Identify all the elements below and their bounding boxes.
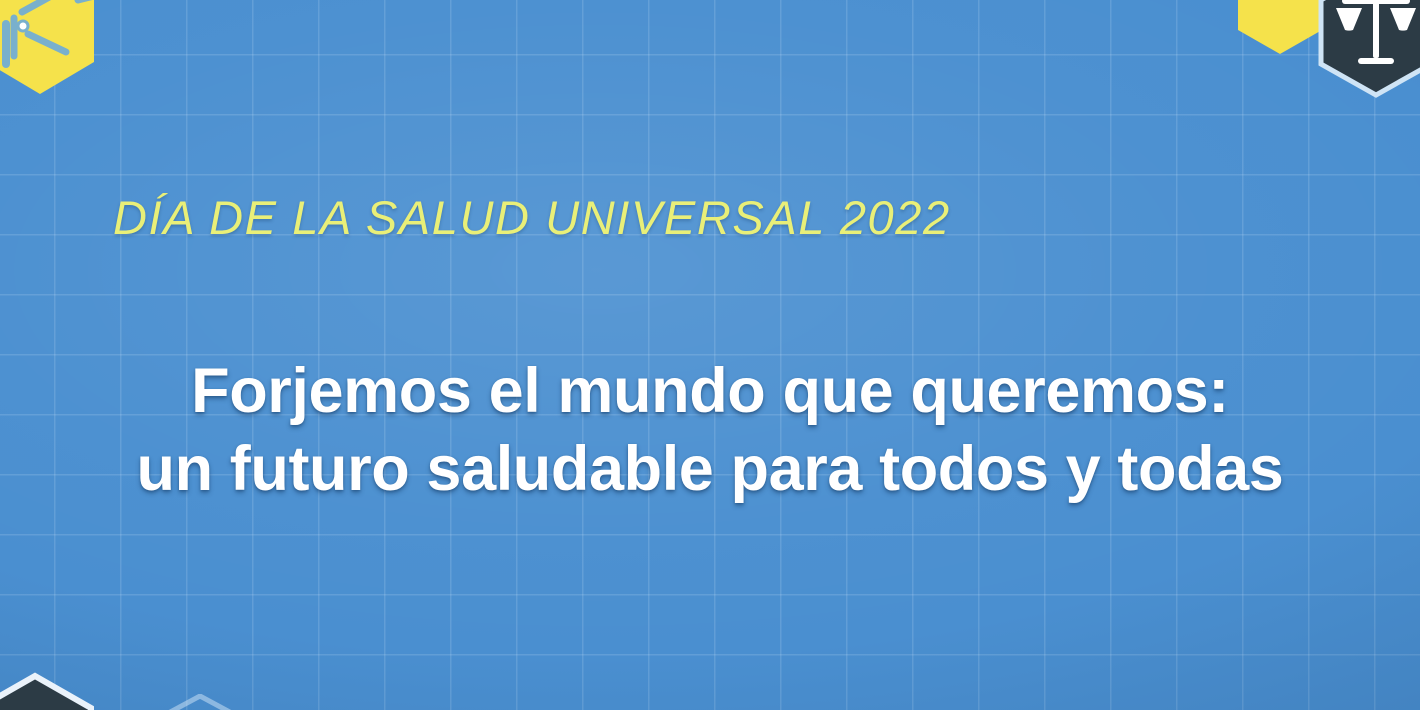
headline-line-1: Forjemos el mundo que queremos: xyxy=(60,352,1360,430)
slide-headline: Forjemos el mundo que queremos: un futur… xyxy=(0,352,1420,508)
headline-line-2: un futuro saludable para todos y todas xyxy=(60,430,1360,508)
slide-eyebrow-title: DÍA DE LA SALUD UNIVERSAL 2022 xyxy=(113,190,951,245)
presentation-slide: DÍA DE LA SALUD UNIVERSAL 2022 Forjemos … xyxy=(0,0,1420,710)
slide-text-block: DÍA DE LA SALUD UNIVERSAL 2022 Forjemos … xyxy=(0,0,1420,710)
